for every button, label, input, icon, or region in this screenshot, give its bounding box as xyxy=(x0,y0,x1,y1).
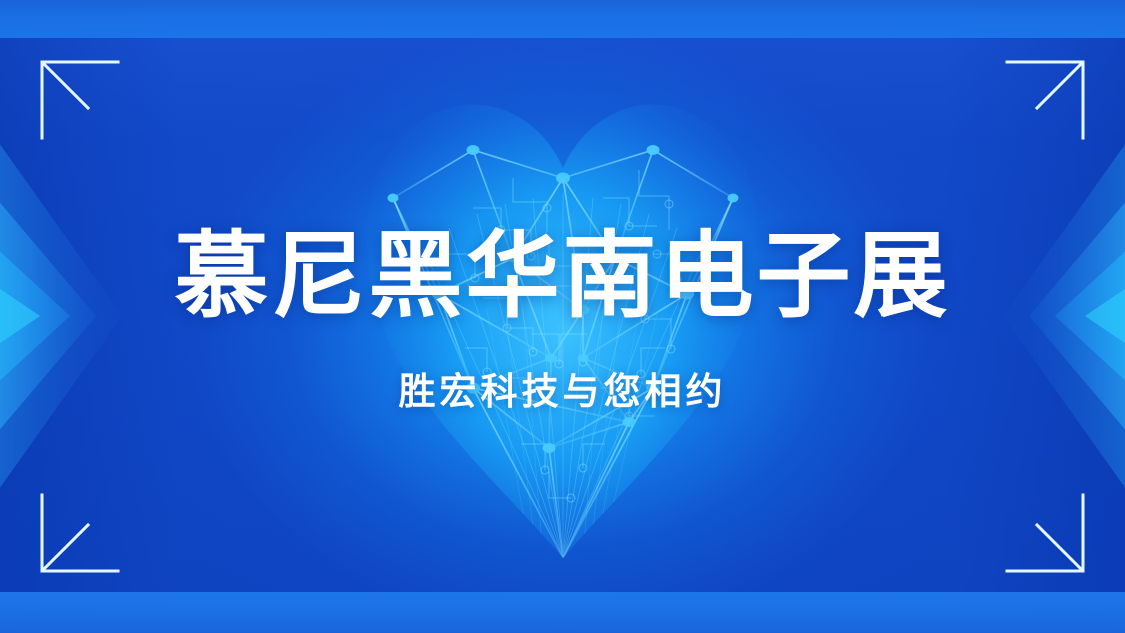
event-banner: 慕尼黑华南电子展 胜宏科技与您相约 xyxy=(0,0,1125,633)
top-band xyxy=(0,0,1125,38)
corner-bracket-bottom-right-icon xyxy=(993,481,1085,573)
banner-main-title: 慕尼黑华南电子展 xyxy=(0,222,1125,330)
corner-bracket-top-right-icon xyxy=(993,60,1085,152)
banner-text-block: 慕尼黑华南电子展 胜宏科技与您相约 xyxy=(0,222,1125,416)
banner-sub-title: 胜宏科技与您相约 xyxy=(0,330,1125,416)
corner-bracket-top-left-icon xyxy=(40,60,132,152)
bottom-band xyxy=(0,592,1125,633)
corner-bracket-bottom-left-icon xyxy=(40,481,132,573)
